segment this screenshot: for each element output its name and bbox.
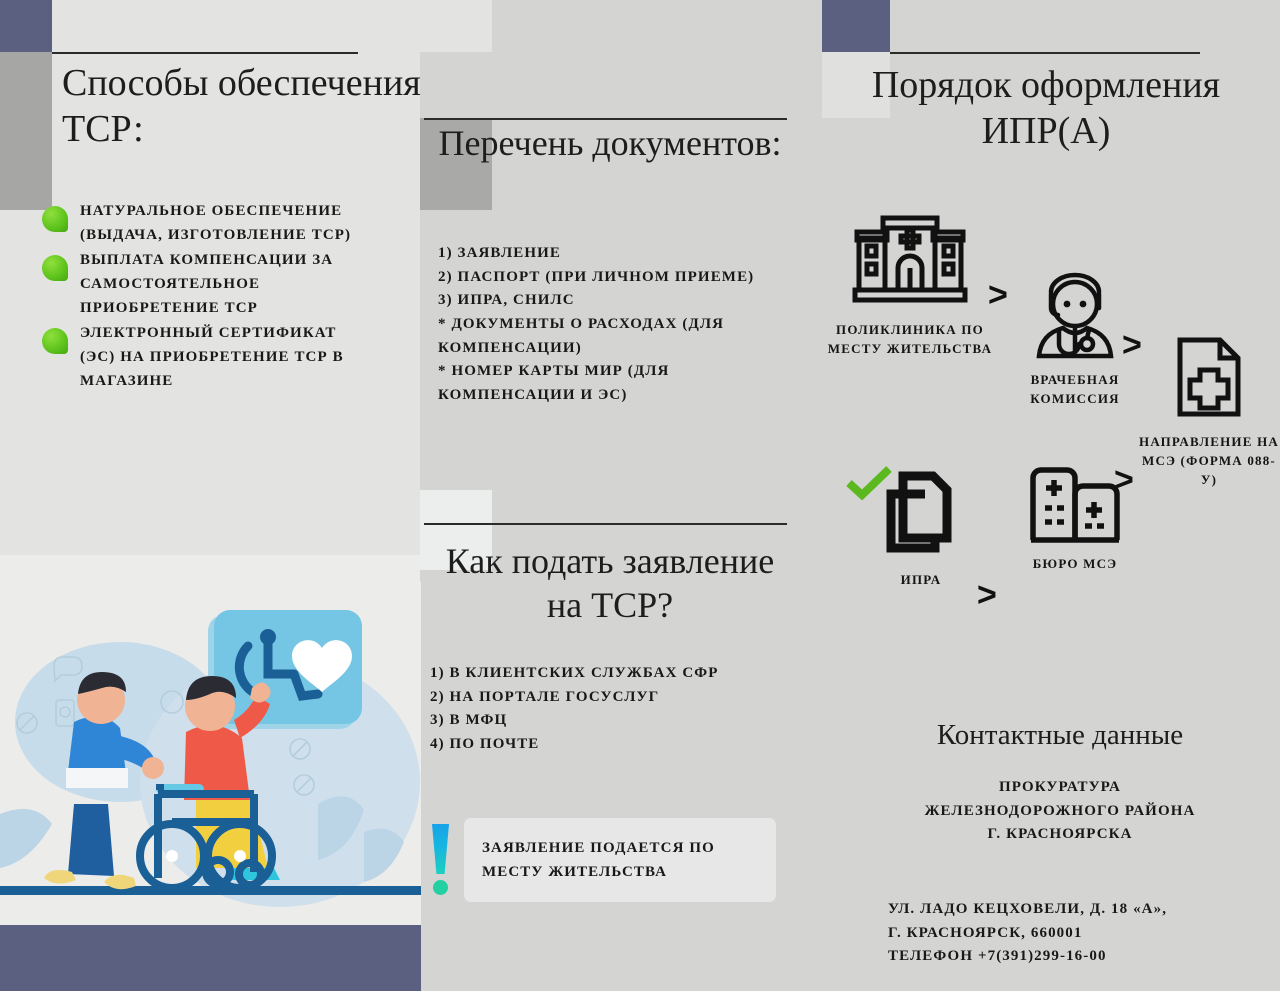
- divider-rule-ipra: [890, 52, 1200, 54]
- list-item: 2) НА ПОРТАЛЕ ГОСУСЛУГ: [430, 686, 800, 710]
- list-item: ЭЛЕКТРОННЫЙ СЕРТИФИКАТ (ЭС) НА ПРИОБРЕТЕ…: [42, 322, 372, 393]
- heading-tsr-methods: Способы обеспечения ТСР:: [62, 60, 422, 153]
- documents-list: 1) ЗАЯВЛЕНИЕ 2) ПАСПОРТ (ПРИ ЛИЧНОМ ПРИЕ…: [438, 242, 788, 408]
- flow-node-label: БЮРО МСЭ: [1000, 555, 1150, 574]
- contact-address-line: УЛ. ЛАДО КЕЦХОВЕЛИ, Д. 18 «А»,: [888, 898, 1280, 922]
- list-item: * ДОКУМЕНТЫ О РАСХОДАХ (ДЛЯ КОМПЕНСАЦИИ): [438, 313, 788, 360]
- flow-node-label: ВРАЧЕБНАЯ КОМИССИЯ: [1000, 371, 1150, 409]
- infographic-poster: Способы обеспечения ТСР: НАТУРАЛЬНОЕ ОБЕ…: [0, 0, 1280, 991]
- flow-node-label: НАПРАВЛЕНИЕ НА МСЭ (ФОРМА 088-У): [1138, 433, 1280, 490]
- wheelchair-caregiver-illustration: [0, 582, 421, 926]
- how-to-apply-list: 1) В КЛИЕНТСКИХ СЛУЖБАХ СФР 2) НА ПОРТАЛ…: [430, 662, 800, 757]
- document-medical-icon: [1172, 336, 1246, 422]
- contact-address-line: Г. КРАСНОЯРСК, 660001: [888, 922, 1280, 946]
- list-item: 3) В МФЦ: [430, 709, 800, 733]
- bullet-dot-icon: [42, 328, 68, 354]
- divider-rule-documents: [424, 118, 787, 120]
- deco-block-gray-top-left: [0, 52, 52, 210]
- contact-org-line: Г. КРАСНОЯРСКА: [860, 823, 1260, 847]
- list-item: 4) ПО ПОЧТЕ: [430, 733, 800, 757]
- list-item: 3) ИПРА, СНИЛС: [438, 289, 788, 313]
- contact-phone: ТЕЛЕФОН +7(391)299-16-00: [888, 945, 1280, 969]
- documents-stack-icon: [875, 470, 967, 560]
- heading-how-to-apply: Как подать заявление на ТСР?: [432, 540, 788, 628]
- doctor-icon: [1023, 268, 1127, 360]
- list-item: 2) ПАСПОРТ (ПРИ ЛИЧНОМ ПРИЕМЕ): [438, 266, 788, 290]
- divider-rule-tsr: [52, 52, 358, 54]
- list-item: 1) В КЛИЕНТСКИХ СЛУЖБАХ СФР: [430, 662, 800, 686]
- notice-callout: ЗАЯВЛЕНИЕ ПОДАЕТСЯ ПО МЕСТУ ЖИТЕЛЬСТВА: [428, 818, 776, 902]
- list-item-label: ЭЛЕКТРОННЫЙ СЕРТИФИКАТ (ЭС) НА ПРИОБРЕТЕ…: [80, 325, 344, 388]
- heading-documents-list: Перечень документов:: [432, 122, 788, 166]
- notice-callout-box: ЗАЯВЛЕНИЕ ПОДАЕТСЯ ПО МЕСТУ ЖИТЕЛЬСТВА: [464, 818, 776, 902]
- divider-rule-howto: [424, 523, 787, 525]
- deco-panel-top-light: [52, 0, 492, 52]
- list-item-label: ВЫПЛАТА КОМПЕНСАЦИИ ЗА САМОСТОЯТЕЛЬНОЕ П…: [80, 252, 333, 315]
- exclamation-mark-icon: [428, 824, 452, 900]
- flow-node-referral: НАПРАВЛЕНИЕ НА МСЭ (ФОРМА 088-У): [1138, 336, 1280, 490]
- flow-node-clinic: ПОЛИКЛИНИКА ПО МЕСТУ ЖИТЕЛЬСТВА: [812, 210, 1008, 359]
- flow-node-ipra: ИПРА: [846, 470, 996, 590]
- list-item: * НОМЕР КАРТЫ МИР (ДЛЯ КОМПЕНСАЦИИ И ЭС): [438, 360, 788, 407]
- list-item: 1) ЗАЯВЛЕНИЕ: [438, 242, 788, 266]
- contact-organization: ПРОКУРАТУРА ЖЕЛЕЗНОДОРОЖНОГО РАЙОНА Г. К…: [860, 776, 1260, 847]
- contact-org-line: ПРОКУРАТУРА: [860, 776, 1260, 800]
- bullet-dot-icon: [42, 255, 68, 281]
- bullet-dot-icon: [42, 206, 68, 232]
- contact-address: УЛ. ЛАДО КЕЦХОВЕЛИ, Д. 18 «А», Г. КРАСНО…: [888, 898, 1280, 969]
- list-item-label: НАТУРАЛЬНОЕ ОБЕСПЕЧЕНИЕ (ВЫДАЧА, ИЗГОТОВ…: [80, 203, 351, 243]
- tsr-methods-list: НАТУРАЛЬНОЕ ОБЕСПЕЧЕНИЕ (ВЫДАЧА, ИЗГОТОВ…: [42, 200, 372, 396]
- deco-block-slate-top-left: [0, 0, 52, 52]
- flow-node-label: ПОЛИКЛИНИКА ПО МЕСТУ ЖИТЕЛЬСТВА: [812, 321, 1008, 359]
- contact-org-line: ЖЕЛЕЗНОДОРОЖНОГО РАЙОНА: [860, 800, 1260, 824]
- notice-callout-text: ЗАЯВЛЕНИЕ ПОДАЕТСЯ ПО МЕСТУ ЖИТЕЛЬСТВА: [464, 836, 776, 884]
- hospital-icon: [851, 210, 969, 310]
- deco-bar-slate-bottom-left: [0, 925, 421, 991]
- list-item: НАТУРАЛЬНОЕ ОБЕСПЕЧЕНИЕ (ВЫДАЧА, ИЗГОТОВ…: [42, 200, 372, 247]
- flow-node-bureau: БЮРО МСЭ: [1000, 462, 1150, 574]
- heading-contacts: Контактные данные: [860, 718, 1260, 753]
- deco-block-slate-top-right: [822, 0, 890, 52]
- list-item: ВЫПЛАТА КОМПЕНСАЦИИ ЗА САМОСТОЯТЕЛЬНОЕ П…: [42, 249, 372, 320]
- bureau-buildings-icon: [1027, 462, 1123, 544]
- flow-node-label: ИПРА: [846, 571, 996, 590]
- heading-ipra-procedure: Порядок оформления ИПР(А): [836, 62, 1256, 155]
